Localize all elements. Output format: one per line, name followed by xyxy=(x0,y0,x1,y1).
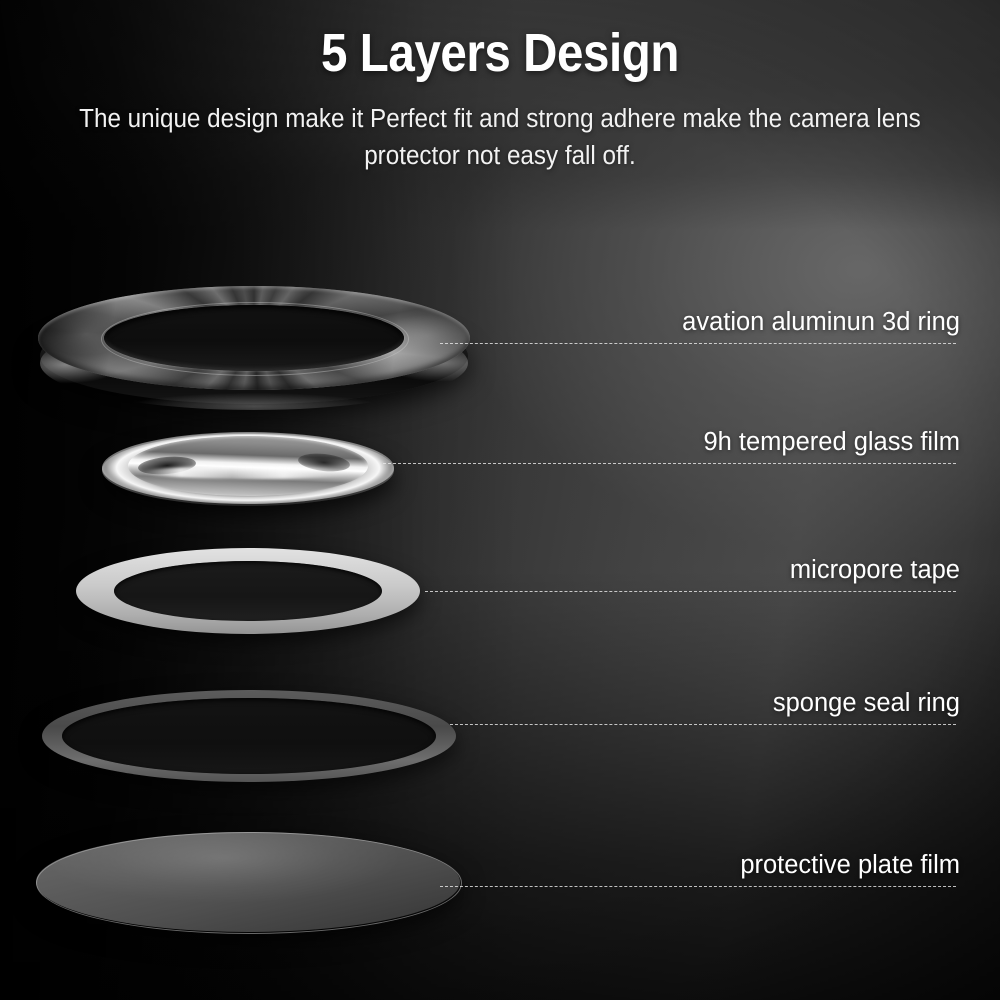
callout-label-micropore-tape: micropore tape xyxy=(790,556,960,585)
callout-aviation-aluminum-ring: avation aluminun 3d ring xyxy=(440,300,960,344)
ring-aperture-rim xyxy=(101,302,409,376)
layer-tempered-glass-film xyxy=(102,430,394,520)
callout-sponge-seal-ring: sponge seal ring xyxy=(450,681,960,725)
leader-line-micropore-tape xyxy=(425,591,956,592)
leader-line-protective-plate-film xyxy=(440,886,956,887)
callout-label-protective-plate-film: protective plate film xyxy=(740,851,960,880)
leader-line-sponge-seal-ring xyxy=(450,724,956,725)
callout-micropore-tape: micropore tape xyxy=(425,548,960,592)
callout-label-sponge-seal-ring: sponge seal ring xyxy=(773,689,960,718)
layer-aviation-aluminum-ring xyxy=(38,286,470,406)
callout-protective-plate-film: protective plate film xyxy=(440,843,960,887)
plate-rim xyxy=(36,832,462,934)
page-subtitle: The unique design make it Perfect fit an… xyxy=(73,101,928,175)
callout-label-tempered-glass-film: 9h tempered glass film xyxy=(703,428,960,457)
leader-line-tempered-glass-film xyxy=(383,463,956,464)
sponge-inner-hole xyxy=(62,698,436,774)
layer-protective-plate-film xyxy=(36,832,460,938)
micropore-inner-hole xyxy=(114,561,382,621)
page-title: 5 Layers Design xyxy=(60,22,940,84)
product-infographic: 5 Layers Design The unique design make i… xyxy=(0,0,1000,1000)
leader-line-aviation-aluminum-ring xyxy=(440,343,956,344)
layer-micropore-tape xyxy=(76,548,420,640)
layer-sponge-seal-ring xyxy=(42,690,456,788)
glass-edge-highlight xyxy=(102,432,394,504)
callout-tempered-glass-film: 9h tempered glass film xyxy=(383,420,960,464)
callout-label-aviation-aluminum-ring: avation aluminun 3d ring xyxy=(682,308,960,337)
